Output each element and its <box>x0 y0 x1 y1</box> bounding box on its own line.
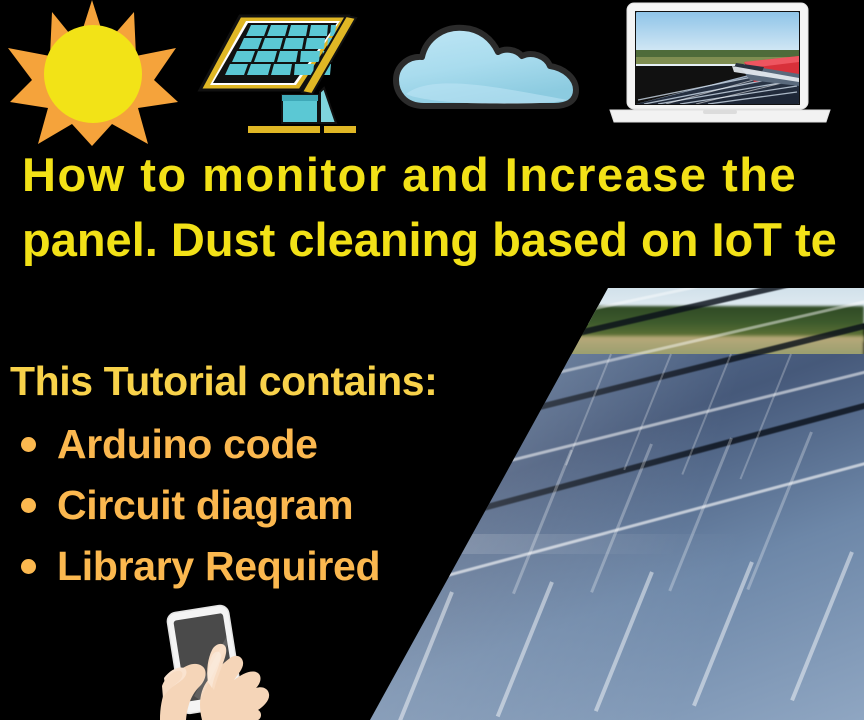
sun-icon <box>8 0 178 146</box>
list-item-label: Arduino code <box>57 414 318 475</box>
solar-panel-icon <box>196 2 376 137</box>
tutorial-heading: This Tutorial contains: <box>10 358 437 404</box>
list-item: Circuit diagram <box>10 475 380 536</box>
page-title-line-2: panel. Dust cleaning based on IoT te <box>22 207 864 272</box>
list-item-label: Circuit diagram <box>57 475 353 536</box>
page-title: How to monitor and Increase the panel. D… <box>22 142 864 272</box>
hand-holding-phone-icon <box>150 600 350 720</box>
page-title-line-1: How to monitor and Increase the <box>22 142 864 207</box>
list-item: Arduino code <box>10 414 380 475</box>
icon-strip <box>0 0 864 145</box>
laptop-icon <box>604 0 836 132</box>
bullet-dot-icon <box>21 437 36 452</box>
bullet-dot-icon <box>21 559 36 574</box>
list-item-label: Library Required <box>57 536 380 597</box>
poster-canvas: How to monitor and Increase the panel. D… <box>0 0 864 720</box>
list-item: Library Required <box>10 536 380 597</box>
tutorial-contents-list: Arduino code Circuit diagram Library Req… <box>10 414 380 597</box>
bullet-dot-icon <box>21 498 36 513</box>
cloud-icon <box>392 14 580 116</box>
